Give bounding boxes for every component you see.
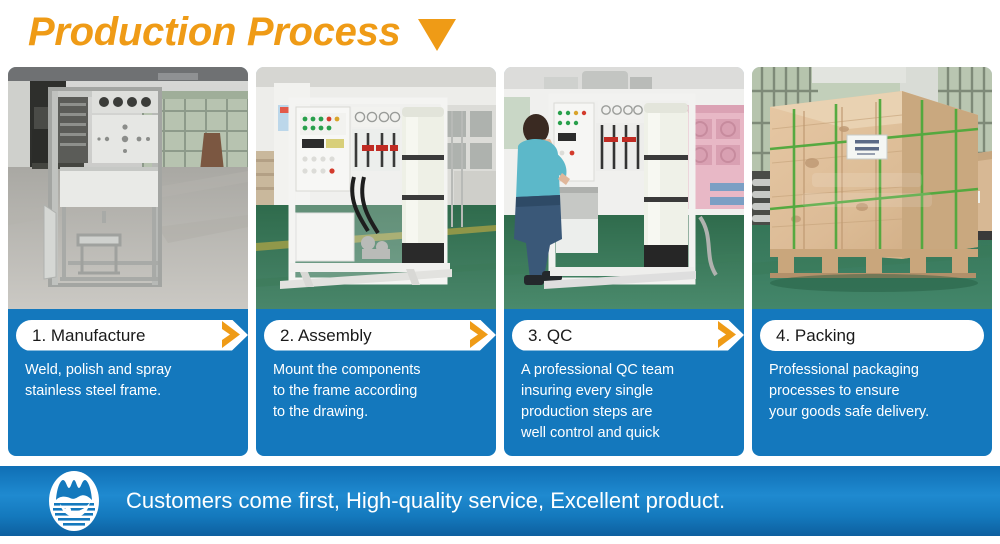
step-label-row-2: 2. Assembly: [256, 319, 496, 351]
photo-3-graphic: [504, 67, 744, 309]
photo-4-graphic: [752, 67, 992, 309]
step-description-1: Weld, polish and spray stainless steel f…: [8, 351, 248, 402]
photo-2-graphic: [256, 67, 496, 309]
step-photo-qc: [504, 67, 744, 309]
company-wave-crown-logo-icon: [48, 470, 100, 532]
step-label-4: 4. Packing: [776, 327, 855, 344]
step-description-2: Mount the components to the frame accord…: [256, 351, 496, 423]
desc-line: processes to ensure: [769, 381, 982, 402]
step-photo-manufacture: [8, 67, 248, 309]
page-header: Production Process: [0, 0, 1000, 64]
process-step-card-3[interactable]: 3. QC A professional QC team insuring ev…: [504, 67, 744, 456]
process-step-card-1[interactable]: 1. Manufacture Weld, polish and spray st…: [8, 67, 248, 456]
desc-line: Weld, polish and spray: [25, 360, 238, 381]
process-step-card-2[interactable]: 2. Assembly Mount the components to the …: [256, 67, 496, 456]
process-steps-row: 1. Manufacture Weld, polish and spray st…: [0, 67, 1000, 456]
photo-1-graphic: [8, 67, 248, 309]
page-title: Production Process: [28, 12, 400, 52]
desc-line: to the frame according: [273, 381, 486, 402]
desc-line: insuring every single: [521, 381, 734, 402]
chevron-right-icon-3: [716, 320, 738, 349]
desc-line: Mount the components: [273, 360, 486, 381]
step-description-4: Professional packaging processes to ensu…: [752, 351, 992, 423]
desc-line: your goods safe delivery.: [769, 402, 982, 423]
step-photo-assembly: [256, 67, 496, 309]
step-photo-packing: [752, 67, 992, 309]
chevron-right-icon-1: [220, 320, 242, 349]
slogan-banner: Customers come first, High-quality servi…: [0, 466, 1000, 536]
crate-shipping-label: [847, 135, 887, 159]
step-label-row-3: 3. QC: [504, 319, 744, 351]
step-label-pill-4: 4. Packing: [760, 320, 984, 351]
process-step-card-4[interactable]: 4. Packing Professional packaging proces…: [752, 67, 992, 456]
step-label-3: 3. QC: [528, 327, 572, 344]
desc-line: stainless steel frame.: [25, 381, 238, 402]
step-label-pill-3: 3. QC: [512, 320, 744, 351]
triangle-down-icon: [418, 19, 456, 51]
step-label-row-1: 1. Manufacture: [8, 319, 248, 351]
step-label-pill-2: 2. Assembly: [264, 320, 496, 351]
step-label-1: 1. Manufacture: [32, 327, 145, 344]
step-label-pill-1: 1. Manufacture: [16, 320, 248, 351]
desc-line: Professional packaging: [769, 360, 982, 381]
step-description-3: A professional QC team insuring every si…: [504, 351, 744, 445]
production-process-page: Production Process: [0, 0, 1000, 544]
desc-line: production steps are: [521, 402, 734, 423]
slogan-text: Customers come first, High-quality servi…: [126, 490, 725, 512]
step-label-row-4: 4. Packing: [752, 319, 992, 351]
chevron-right-icon-2: [468, 320, 490, 349]
desc-line: well control and quick: [521, 423, 734, 444]
step-label-2: 2. Assembly: [280, 327, 372, 344]
desc-line: A professional QC team: [521, 360, 734, 381]
desc-line: to the drawing.: [273, 402, 486, 423]
